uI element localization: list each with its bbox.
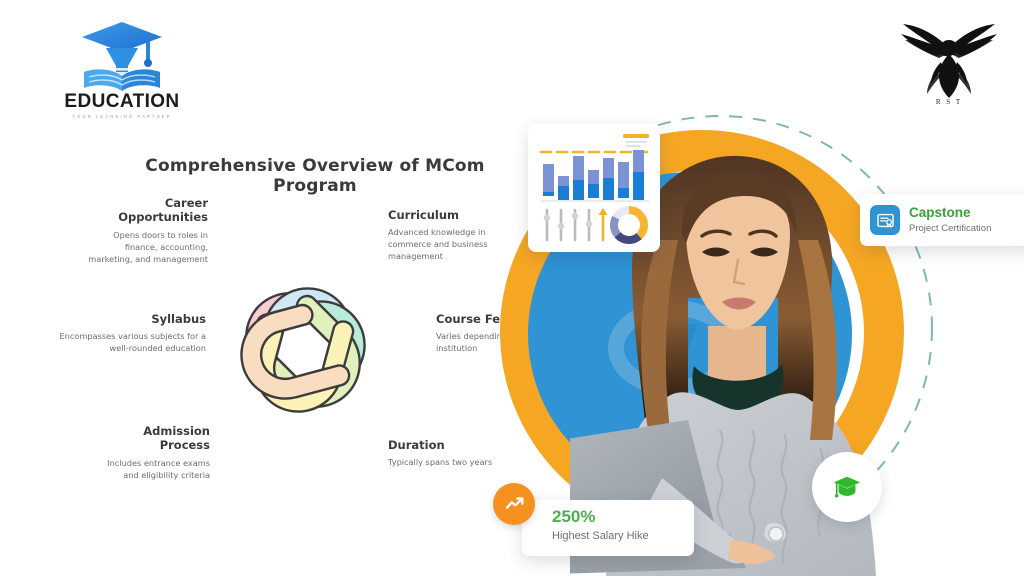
graduation-cap-icon [832, 472, 862, 502]
infographic-node-admission-process: Admission Process Includes entrance exam… [98, 424, 210, 482]
salary-hike-card[interactable]: 250% Highest Salary Hike [522, 500, 694, 556]
infographic-node-career-opportunities: Career Opportunities Opens doors to role… [88, 196, 208, 265]
salary-hike-value: 250% [552, 508, 694, 525]
slider-group [544, 208, 608, 240]
bar-series [543, 150, 644, 200]
analytics-dashboard-card [528, 124, 660, 252]
education-logo-tagline: YOUR LEARNING PARTNER [72, 114, 172, 119]
phoenix-eagle-icon [897, 14, 1001, 100]
education-logo: EDUCATION YOUR LEARNING PARTNER [62, 18, 182, 122]
graduation-cap-badge [812, 452, 882, 522]
education-logo-wordmark: EDUCATION [64, 92, 179, 111]
certificate-icon [870, 205, 900, 235]
capstone-card[interactable]: Capstone Project Certification [860, 194, 1024, 246]
capstone-subtitle: Project Certification [909, 224, 991, 235]
capstone-title: Capstone [909, 205, 991, 221]
analytics-dashboard-icon [537, 132, 651, 244]
infographic-node-syllabus: Syllabus Encompasses various subjects fo… [58, 312, 206, 355]
donut-chart [608, 204, 650, 244]
node-title: Syllabus [58, 312, 206, 326]
node-description: Opens doors to roles in finance, account… [88, 230, 208, 266]
graduation-cap-book-icon [76, 18, 168, 92]
node-title: Admission Process [98, 424, 210, 453]
trending-up-icon [493, 483, 535, 525]
node-description: Encompasses various subjects for a well-… [58, 331, 206, 355]
node-description: Includes entrance exams and eligibility … [98, 458, 210, 482]
poster-canvas: EDUCATION YOUR LEARNING PARTNER [0, 0, 1024, 576]
salary-hike-label: Highest Salary Hike [552, 530, 694, 542]
node-title: Career Opportunities [88, 196, 208, 225]
